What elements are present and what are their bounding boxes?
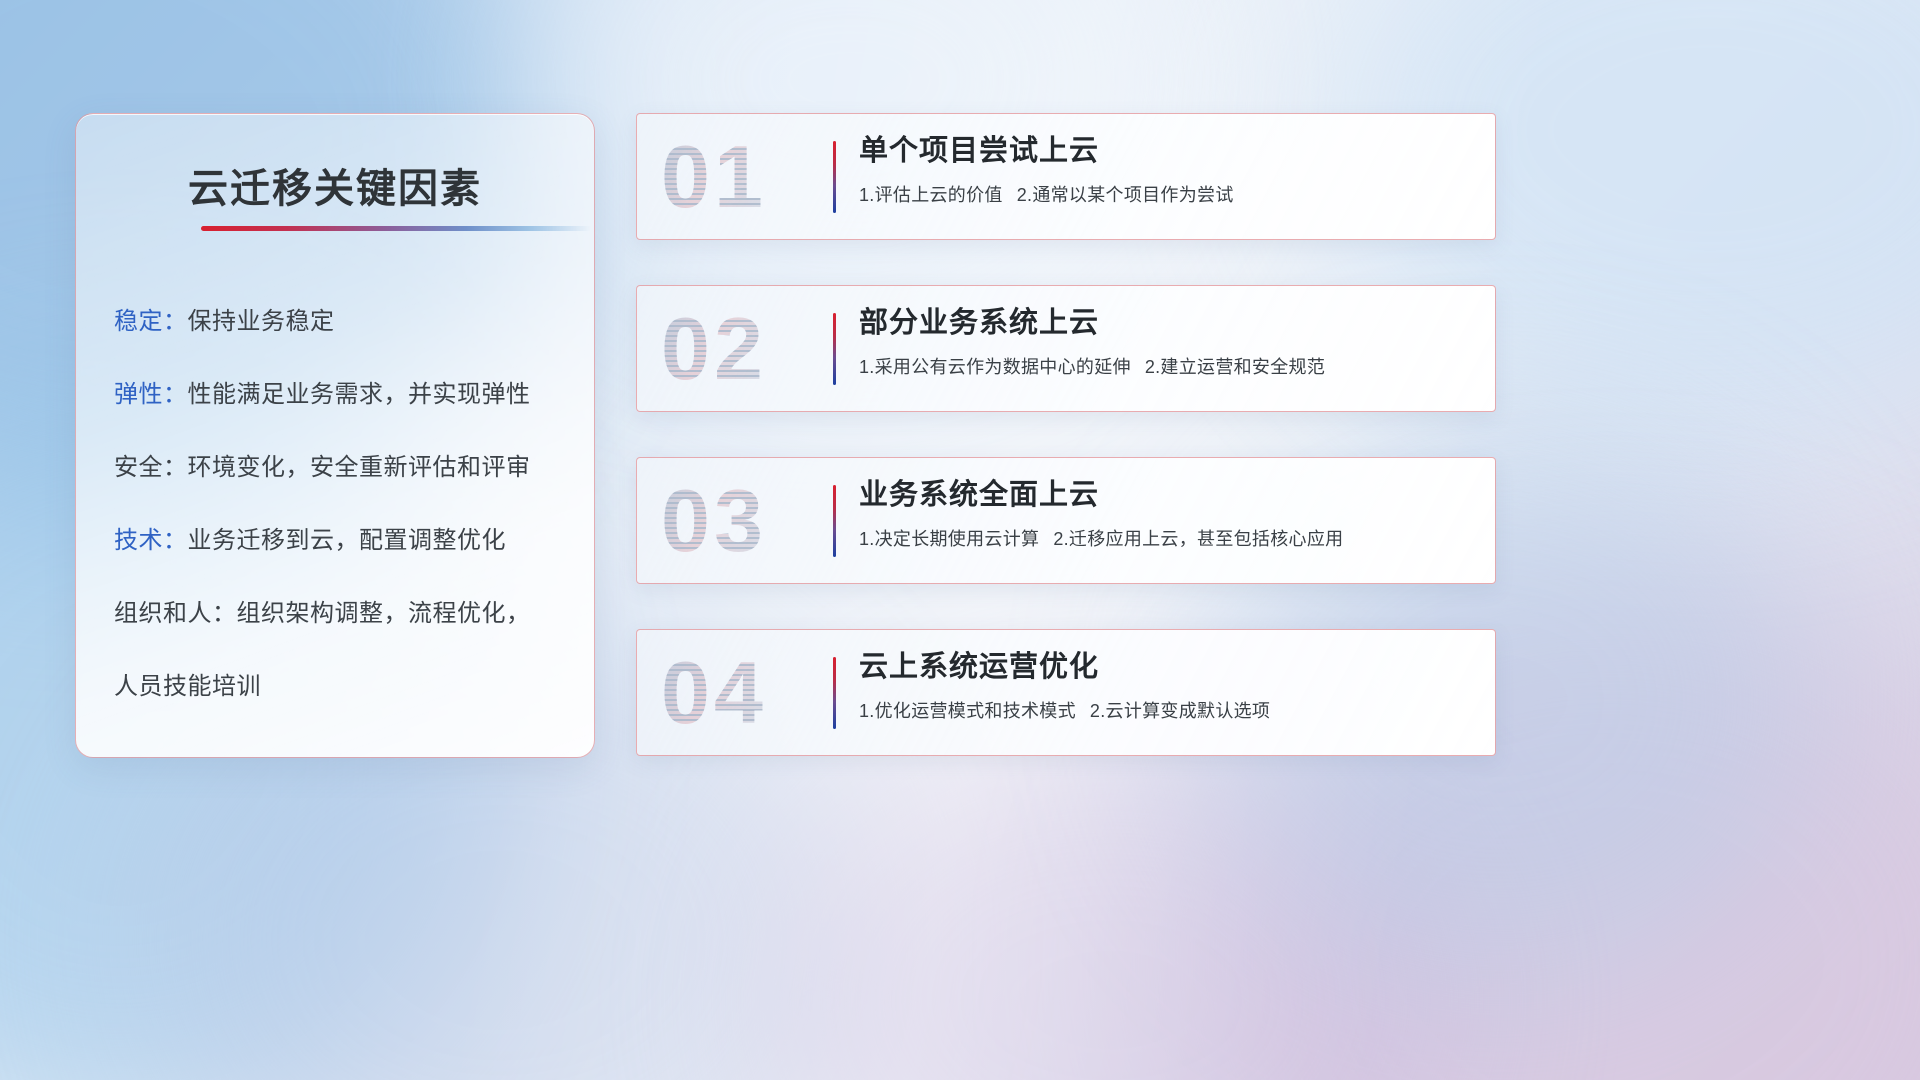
step-accent-bar [833,313,836,385]
step-description-item-2: 2.通常以某个项目作为尝试 [1017,185,1234,205]
list-item: 稳定：保持业务稳定 [114,310,568,334]
step-description-item-1: 1.采用公有云作为数据中心的延伸 [859,357,1131,377]
step-description-item-2: 2.迁移应用上云，甚至包括核心应用 [1053,529,1343,549]
step-accent-bar [833,141,836,213]
step-accent-bar [833,657,836,729]
step-title: 部分业务系统上云 [859,308,1477,340]
step-description-item-2: 2.建立运营和安全规范 [1145,357,1325,377]
factor-text: 组织架构调整，流程优化， [237,600,531,627]
key-factors-panel: 云迁移关键因素 稳定：保持业务稳定 弹性：性能满足业务需求，并实现弹性 安全：环… [75,113,595,758]
factor-label: 安全： [114,454,188,481]
step-card-02[interactable]: 02 部分业务系统上云 1.采用公有云作为数据中心的延伸2.建立运营和安全规范 [636,285,1496,412]
factor-label: 组织和人： [114,600,237,627]
step-accent-bar [833,485,836,557]
factor-text: 环境变化，安全重新评估和评审 [188,454,531,481]
step-number-watermark: 02 [661,305,767,393]
page-title: 云迁移关键因素 [76,156,594,214]
step-title: 业务系统全面上云 [859,480,1477,512]
factor-text: 人员技能培训 [114,673,261,700]
slide-stage: 云迁移关键因素 稳定：保持业务稳定 弹性：性能满足业务需求，并实现弹性 安全：环… [0,0,1920,1080]
step-title: 单个项目尝试上云 [859,136,1477,168]
step-number-watermark: 01 [661,133,767,221]
step-number-watermark: 03 [661,477,767,565]
step-description-item-2: 2.云计算变成默认选项 [1090,701,1270,721]
step-description-item-1: 1.决定长期使用云计算 [859,529,1039,549]
step-description-item-1: 1.评估上云的价值 [859,185,1003,205]
list-item: 人员技能培训 [114,675,568,699]
factor-text: 业务迁移到云，配置调整优化 [188,527,507,554]
step-body: 云上系统运营优化 1.优化运营模式和技术模式2.云计算变成默认选项 [859,652,1477,723]
step-body: 部分业务系统上云 1.采用公有云作为数据中心的延伸2.建立运营和安全规范 [859,308,1477,379]
factor-label: 弹性： [114,381,188,408]
step-description: 1.采用公有云作为数据中心的延伸2.建立运营和安全规范 [859,353,1477,379]
title-underline-gradient [201,226,591,231]
step-description: 1.优化运营模式和技术模式2.云计算变成默认选项 [859,697,1477,723]
step-body: 业务系统全面上云 1.决定长期使用云计算2.迁移应用上云，甚至包括核心应用 [859,480,1477,551]
list-item: 技术：业务迁移到云，配置调整优化 [114,529,568,553]
key-factors-list: 稳定：保持业务稳定 弹性：性能满足业务需求，并实现弹性 安全：环境变化，安全重新… [114,310,568,699]
factor-label: 技术： [114,527,188,554]
list-item: 组织和人：组织架构调整，流程优化， [114,602,568,626]
step-description: 1.评估上云的价值2.通常以某个项目作为尝试 [859,181,1477,207]
step-card-04[interactable]: 04 云上系统运营优化 1.优化运营模式和技术模式2.云计算变成默认选项 [636,629,1496,756]
step-title: 云上系统运营优化 [859,652,1477,684]
factor-text: 性能满足业务需求，并实现弹性 [188,381,531,408]
step-body: 单个项目尝试上云 1.评估上云的价值2.通常以某个项目作为尝试 [859,136,1477,207]
list-item: 安全：环境变化，安全重新评估和评审 [114,456,568,480]
factor-label: 稳定： [114,308,188,335]
step-description: 1.决定长期使用云计算2.迁移应用上云，甚至包括核心应用 [859,525,1477,551]
step-card-01[interactable]: 01 单个项目尝试上云 1.评估上云的价值2.通常以某个项目作为尝试 [636,113,1496,240]
factor-text: 保持业务稳定 [188,308,335,335]
step-description-item-1: 1.优化运营模式和技术模式 [859,701,1076,721]
step-card-03[interactable]: 03 业务系统全面上云 1.决定长期使用云计算2.迁移应用上云，甚至包括核心应用 [636,457,1496,584]
list-item: 弹性：性能满足业务需求，并实现弹性 [114,383,568,407]
step-number-watermark: 04 [661,649,767,737]
